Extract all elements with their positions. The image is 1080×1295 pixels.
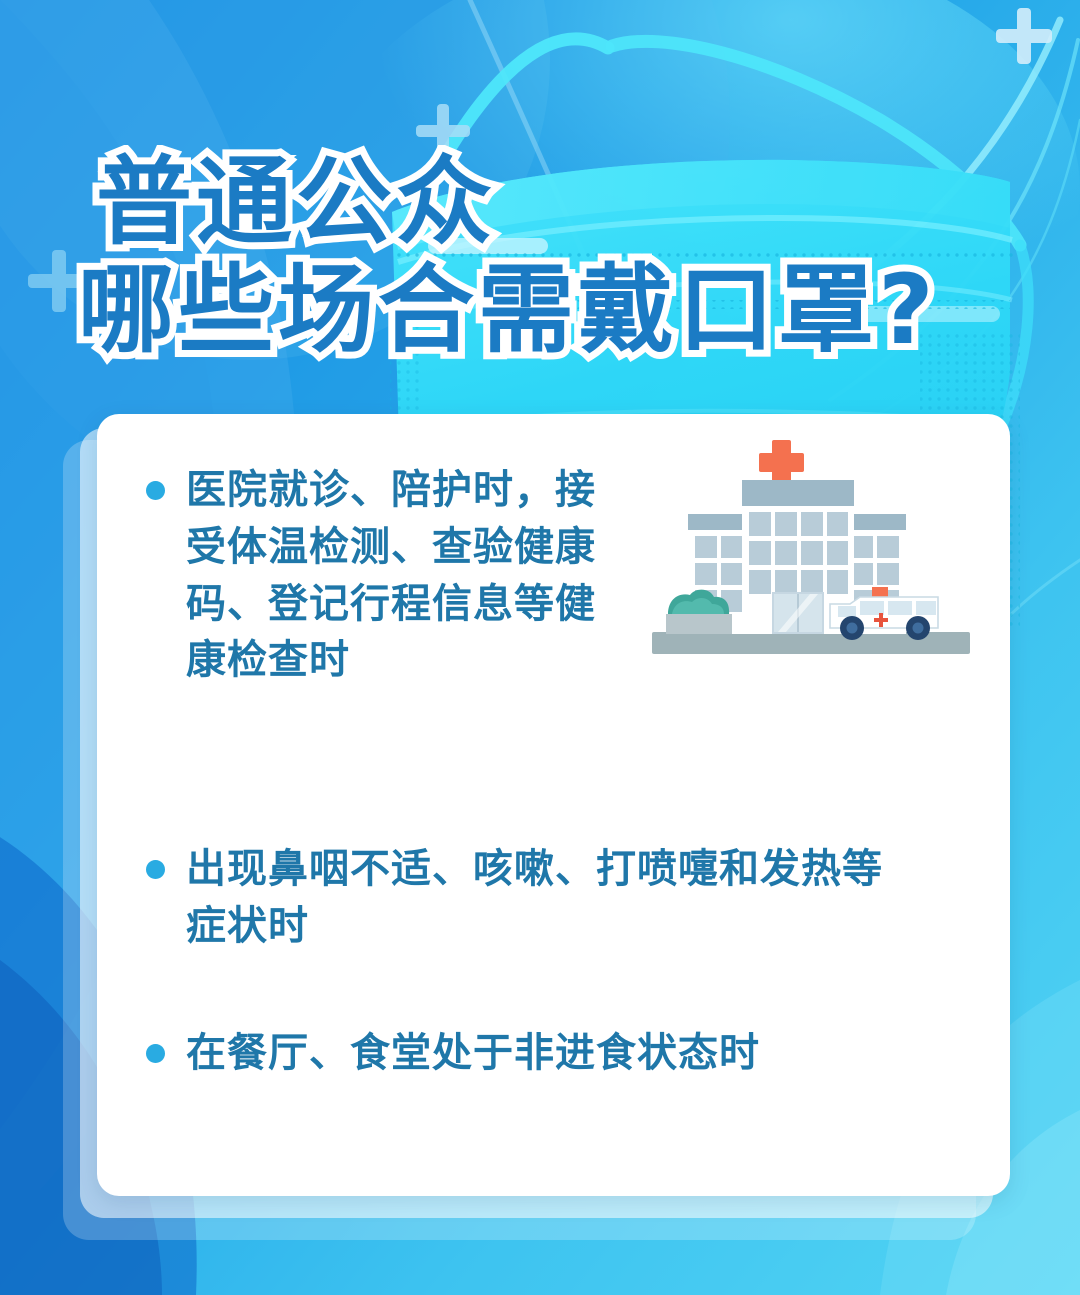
page-title: 普通公众 哪些场合需戴口罩?: [78, 152, 1008, 362]
bullet-item-3: 在餐厅、食堂处于非进食状态时: [146, 1025, 976, 1082]
bullet-item-1: 医院就诊、陪护时，接受体温检测、查验健康码、登记行程信息等健康检查时: [146, 462, 976, 689]
bullet-dot-icon: [146, 481, 165, 500]
bullet-list: 医院就诊、陪护时，接受体温检测、查验健康码、登记行程信息等健康检查时 出现鼻咽不…: [146, 462, 976, 1082]
title-line-2: 哪些场合需戴口罩?: [78, 260, 1008, 362]
bullet-text-3: 在餐厅、食堂处于非进食状态时: [186, 1025, 901, 1082]
title-line-1: 普通公众: [96, 152, 1008, 254]
content-card: 医院就诊、陪护时，接受体温检测、查验健康码、登记行程信息等健康检查时 出现鼻咽不…: [97, 414, 1010, 1196]
bullet-dot-icon: [146, 860, 165, 879]
bullet-dot-icon: [146, 1044, 165, 1063]
bullet-item-2: 出现鼻咽不适、咳嗽、打喷嚏和发热等症状时: [146, 841, 976, 955]
bullet-text-2: 出现鼻咽不适、咳嗽、打喷嚏和发热等症状时: [186, 841, 901, 955]
poster-root: 普通公众 哪些场合需戴口罩?: [0, 0, 1080, 1295]
plus-decoration-right-icon: [996, 8, 1052, 64]
bullet-text-1: 医院就诊、陪护时，接受体温检测、查验健康码、登记行程信息等健康检查时: [186, 462, 633, 689]
